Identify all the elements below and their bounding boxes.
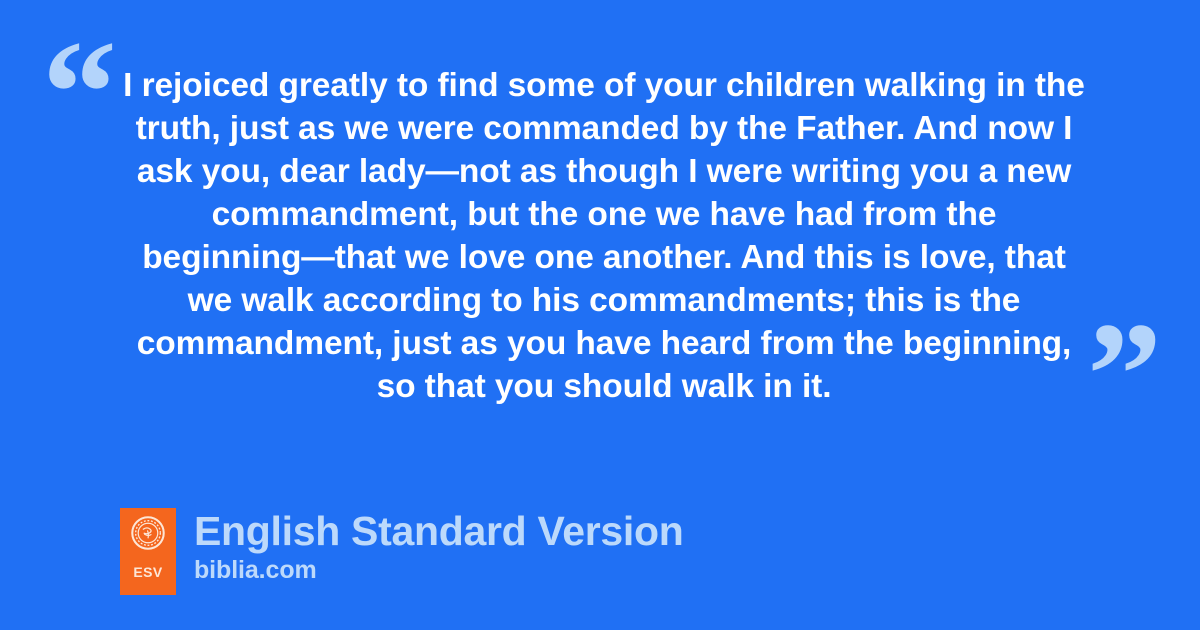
attribution-footer: ESV English Standard Version biblia.com xyxy=(120,508,683,595)
quote-text: I rejoiced greatly to find some of your … xyxy=(108,64,1100,408)
opening-quote-icon: “ xyxy=(42,18,117,168)
quote-block: I rejoiced greatly to find some of your … xyxy=(108,64,1100,408)
esv-logo-tile: ESV xyxy=(120,508,176,595)
attribution-text-group: English Standard Version biblia.com xyxy=(194,508,683,584)
closing-quote-icon: ” xyxy=(1087,300,1162,450)
esv-seal-icon xyxy=(131,516,165,550)
esv-logo-abbreviation: ESV xyxy=(120,564,176,580)
bible-version-name: English Standard Version xyxy=(194,508,683,554)
quote-card: “ I rejoiced greatly to find some of you… xyxy=(0,0,1200,630)
site-url[interactable]: biblia.com xyxy=(194,556,683,584)
